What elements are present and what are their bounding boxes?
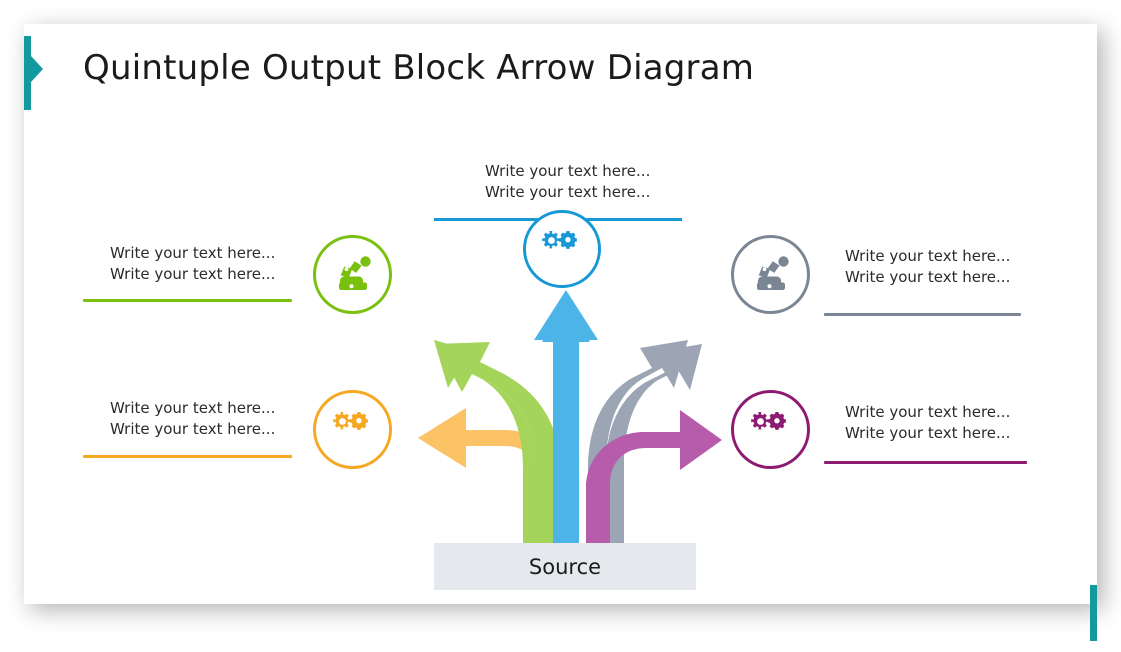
node-text-line2: Write your text here... bbox=[110, 419, 275, 440]
robot-arm-icon bbox=[749, 253, 793, 297]
icon-circle-lower-right[interactable] bbox=[731, 390, 810, 469]
connector-line-lower-left bbox=[83, 455, 292, 458]
connector-line-upper-left bbox=[83, 299, 292, 302]
icon-circle-top-center[interactable] bbox=[523, 210, 601, 288]
node-text-line1: Write your text here... bbox=[845, 246, 1010, 267]
accent-pointer-icon bbox=[31, 56, 43, 82]
node-text-line1: Write your text here... bbox=[845, 402, 1010, 423]
source-label: Source bbox=[529, 555, 601, 579]
icon-circle-upper-left[interactable] bbox=[313, 235, 392, 314]
node-text-line1: Write your text here... bbox=[485, 161, 650, 182]
node-text-lower-left: Write your text here... Write your text … bbox=[110, 398, 275, 440]
node-text-top-center: Write your text here... Write your text … bbox=[485, 161, 650, 203]
gears-icon bbox=[332, 411, 374, 449]
icon-circle-upper-right[interactable] bbox=[731, 235, 810, 314]
source-block[interactable]: Source bbox=[434, 543, 696, 590]
node-text-line1: Write your text here... bbox=[110, 243, 275, 264]
node-text-upper-left: Write your text here... Write your text … bbox=[110, 243, 275, 285]
node-text-line2: Write your text here... bbox=[110, 264, 275, 285]
node-text-line2: Write your text here... bbox=[485, 182, 650, 203]
page-title: Quintuple Output Block Arrow Diagram bbox=[83, 48, 754, 88]
node-text-line2: Write your text here... bbox=[845, 267, 1010, 288]
node-text-line2: Write your text here... bbox=[845, 423, 1010, 444]
node-text-lower-right: Write your text here... Write your text … bbox=[845, 402, 1010, 444]
gears-icon bbox=[750, 411, 792, 449]
connector-line-lower-right bbox=[824, 461, 1027, 464]
accent-bar-left bbox=[24, 36, 31, 110]
icon-circle-lower-left[interactable] bbox=[313, 390, 392, 469]
gears-icon bbox=[541, 230, 583, 268]
slide-stage: Quintuple Output Block Arrow Diagram Wri… bbox=[0, 0, 1121, 652]
node-text-line1: Write your text here... bbox=[110, 398, 275, 419]
robot-arm-icon bbox=[331, 253, 375, 297]
block-arrow-cluster bbox=[400, 282, 730, 550]
node-text-upper-right: Write your text here... Write your text … bbox=[845, 246, 1010, 288]
connector-line-upper-right bbox=[824, 313, 1021, 316]
accent-bar-bottom-right bbox=[1090, 585, 1097, 641]
